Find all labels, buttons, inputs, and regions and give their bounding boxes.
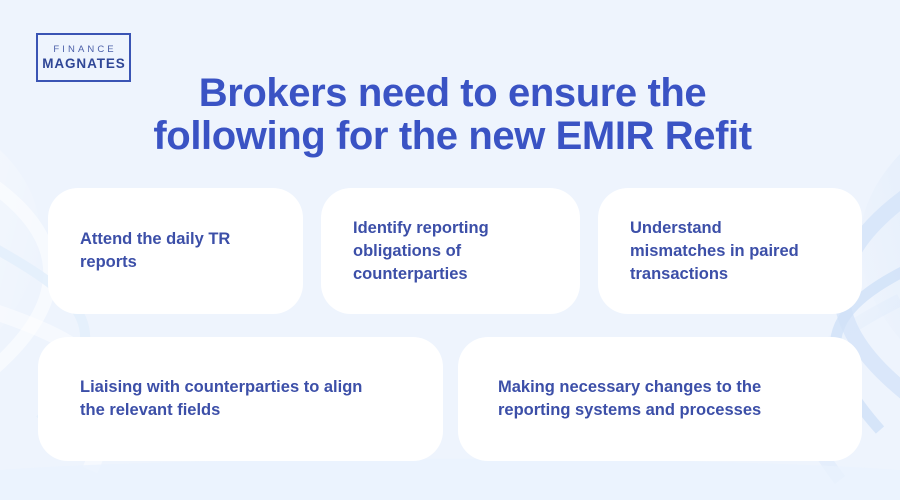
- info-card-line: transactions: [630, 265, 728, 283]
- info-card-line: obligations of: [353, 242, 461, 260]
- info-card-liaising-with-counterparties: Liaising with counterparties to align th…: [38, 337, 443, 461]
- info-card-text: Attend the daily TR reports: [48, 228, 303, 274]
- info-card-line: the relevant fields: [80, 401, 220, 419]
- infographic-canvas: FINANCE MAGNATES Brokers need to ensure …: [0, 0, 900, 500]
- info-card-line: Liaising with counterparties to align: [80, 378, 362, 396]
- info-card-text: Making necessary changes to the reportin…: [458, 376, 862, 422]
- info-card-line: reporting systems and processes: [498, 401, 761, 419]
- page-title-line-2: following for the new EMIR Refit: [130, 115, 775, 158]
- info-card-line: Making necessary changes to the: [498, 378, 761, 396]
- info-card-text: Identify reporting obligations of counte…: [321, 217, 580, 286]
- logo-bottom-word: MAGNATES: [41, 56, 125, 72]
- logo-top-word: FINANCE: [50, 44, 117, 56]
- info-card-line: reports: [80, 253, 137, 271]
- page-title-line-1: Brokers need to ensure the: [130, 72, 775, 115]
- info-card-making-necessary-changes: Making necessary changes to the reportin…: [458, 337, 862, 461]
- finance-magnates-logo[interactable]: FINANCE MAGNATES: [36, 33, 131, 82]
- info-card-text: Understand mismatches in paired transact…: [598, 217, 862, 286]
- info-card-attend-daily-tr-reports: Attend the daily TR reports: [48, 188, 303, 314]
- info-card-line: counterparties: [353, 265, 468, 283]
- info-card-line: Understand: [630, 219, 722, 237]
- info-card-identify-reporting-obligations: Identify reporting obligations of counte…: [321, 188, 580, 314]
- info-card-understand-mismatches: Understand mismatches in paired transact…: [598, 188, 862, 314]
- info-card-line: mismatches in paired: [630, 242, 799, 260]
- page-title: Brokers need to ensure the following for…: [130, 72, 775, 158]
- info-card-line: Identify reporting: [353, 219, 489, 237]
- info-card-text: Liaising with counterparties to align th…: [38, 376, 443, 422]
- info-card-line: Attend the daily TR: [80, 230, 230, 248]
